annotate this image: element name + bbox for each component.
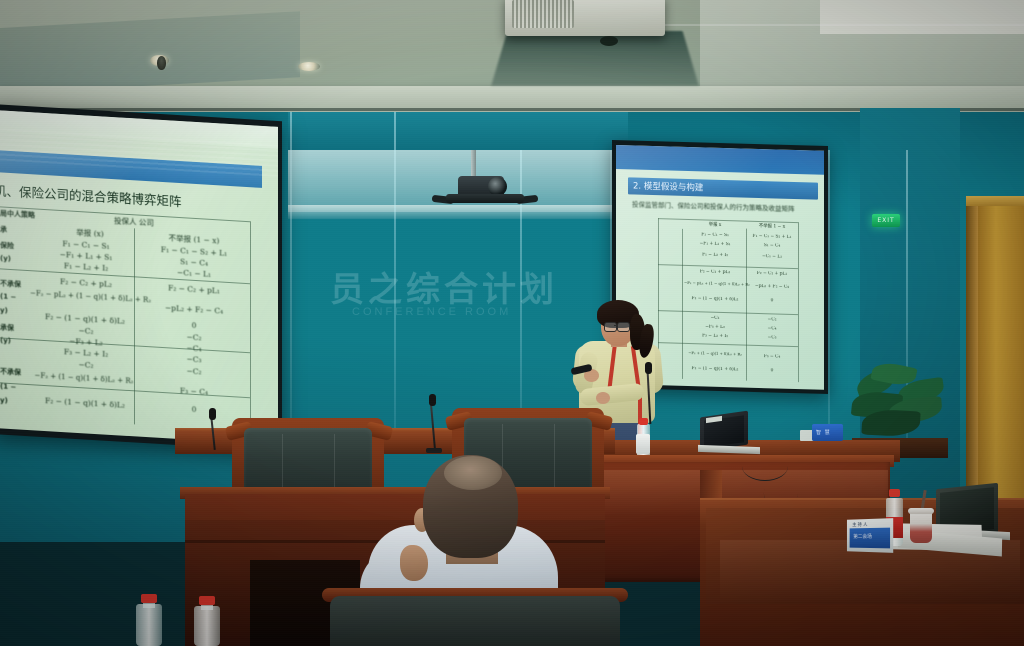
camera-base: [446, 194, 524, 203]
left-table-row-label: (y): [0, 254, 11, 263]
frosted-glass-panel-edge: [288, 205, 628, 219]
left-projection-screen: 机、保险公司的混合策略博弈矩阵 局中人策略 投保人 公司 举报 (x) 不举报 …: [0, 110, 278, 445]
wall-etched-subtext: CONFERENCE ROOM: [352, 306, 572, 324]
water-bottle-table-cap: [889, 489, 900, 497]
chair-seam: [334, 434, 335, 494]
presenter-glasses-right-lens: [617, 322, 630, 332]
left-table-cell: −F₂ − pL₂ + (1 − q)(1 + δ)L₂ + R₂: [30, 288, 140, 306]
chair-seam: [554, 424, 555, 492]
right-slide-payoff-table: 举报 x 不举报 1 − x F₁ − C₁ − S₁ F₁ − C₁ − S₂…: [658, 218, 798, 382]
right-table-cell: −C₁ − L₁: [748, 253, 796, 261]
right-slide-subtitle: 投保监管部门、保险公司和投保人的行为策略及收益矩阵: [632, 198, 820, 215]
right-table-cell: 0: [748, 297, 796, 305]
glass-seam: [828, 150, 830, 450]
microphone-head-icon: [429, 394, 436, 406]
left-table-cell: 0: [140, 401, 248, 418]
right-table-cell: F₁ − C₁ − S₂ + L₁: [748, 233, 796, 241]
right-table-col-header: 举报 x: [686, 221, 744, 230]
right-table-cell: −C₂: [686, 314, 744, 323]
water-bottle-foreground-2: [194, 606, 220, 646]
left-table-cell: F₂ − C₂ + pL₁: [140, 281, 248, 298]
chair-seam: [282, 434, 283, 494]
paper-cup: [910, 511, 932, 543]
water-bottle-foreground-1: [136, 604, 162, 646]
right-table-cell: F₂ − C₂ + pL₁: [748, 270, 796, 278]
left-table-row-label: (1 −: [0, 382, 16, 391]
right-table-cell: −C₂: [748, 316, 796, 324]
conference-room-photo: 员之综合计划 CONFERENCE ROOM EXIT 机、保险公司的混合策略博…: [0, 0, 1024, 646]
glass-seam: [290, 112, 292, 442]
bottle-cap: [141, 594, 157, 603]
ceiling-sprinkler-icon: [157, 56, 166, 70]
left-table-row-label: 不承保: [0, 366, 21, 377]
right-table-cell: F₂ − C₂ + pL₂: [686, 268, 744, 277]
right-table-col-header: 不举报 1 − x: [748, 223, 796, 231]
microphone-head-icon: [645, 362, 652, 374]
left-table-row-label: 保险: [0, 240, 14, 251]
right-slide-top-band: [616, 145, 824, 175]
left-table-corner-label: 局中人策略: [0, 208, 35, 220]
presenter-glasses-left-lens: [604, 322, 617, 332]
presenter-glasses-bridge: [614, 325, 618, 326]
ceiling-notch: [820, 0, 1024, 34]
left-table-cell: −pL₂ + F₂ − C₄: [140, 301, 248, 318]
left-slide-payoff-table: 局中人策略 投保人 公司 举报 (x) 不举报 (1 − x) 承 保险 (y)…: [0, 206, 262, 434]
presenter-hand-lower: [596, 392, 610, 404]
audience-chair-back[interactable]: [330, 596, 620, 646]
water-bottle-cap: [639, 418, 648, 425]
bottle-cap: [199, 596, 215, 605]
right-table-cell: −F₂ + (1 − q)(1 + δ)L₂ + R₂: [684, 349, 746, 358]
right-table-cell: −F₁ + L₁ + S₁: [686, 240, 744, 249]
right-table-cell: F₂ − (1 − q)(1 + δ)L₂: [684, 365, 746, 374]
right-table-cell: −F₂ − pL₂ + (1 − q)(1 + δ)L₂ + R₂: [684, 279, 746, 288]
right-table-cell: −C₃: [748, 334, 796, 342]
left-table-row-label: 承保: [0, 322, 14, 333]
microphone-head-icon: [209, 408, 216, 420]
presenter-name-badge: [636, 434, 650, 454]
left-table-row-label: 不承保: [0, 278, 21, 289]
left-table-row-label: y): [0, 306, 8, 314]
right-table-cell: 0: [748, 367, 796, 375]
right-table-cell: −C₄: [748, 325, 796, 333]
chair-cushion-left[interactable]: [244, 428, 372, 496]
projector-shadow: [491, 31, 699, 86]
right-table-cell: F₁ − L₂ + I₂: [686, 251, 744, 260]
projector-lens-icon: [600, 36, 618, 46]
wall-upper-strip: [288, 112, 628, 150]
right-table-cell: F₂ − (1 − q)(1 + δ)L₂: [684, 295, 746, 304]
name-card-line-2: 第二会场: [853, 533, 888, 541]
left-table-cell: F₂ − (1 − q)(1 + δ)L₂: [34, 394, 136, 411]
left-table-row-label: (y): [0, 336, 11, 345]
right-table-cell: F₃ − C₄: [748, 353, 796, 361]
right-table-cell: F₁ − C₁ − S₁: [686, 231, 744, 240]
right-table-cell: F₃ − L₂ + I₂: [686, 332, 744, 341]
microphone-base: [426, 448, 442, 453]
name-card-line-1: 主 持 人: [852, 522, 887, 528]
podium-blue-box-label: 智 慧: [816, 429, 840, 438]
right-table-cell: −pL₂ + F₂ − C₄: [748, 283, 796, 291]
left-table-row-label: (1 −: [0, 292, 16, 301]
left-table-cell: F₃ − C₄: [140, 383, 248, 400]
left-table-row-label: 承: [0, 224, 7, 234]
paper-cup-lid: [908, 508, 934, 514]
audience-bald-crown: [444, 456, 502, 490]
right-table-cell: S₁ − C₄: [748, 242, 796, 250]
right-table-cell: −F₃ + L₂: [686, 323, 744, 332]
left-table-row-label: y): [0, 396, 8, 404]
ceiling-seam-upper: [640, 24, 1024, 26]
downlight-icon: [298, 62, 320, 71]
projector-vent-grille: [512, 0, 574, 28]
audience-hand: [400, 545, 428, 581]
exit-sign: EXIT: [872, 214, 900, 227]
